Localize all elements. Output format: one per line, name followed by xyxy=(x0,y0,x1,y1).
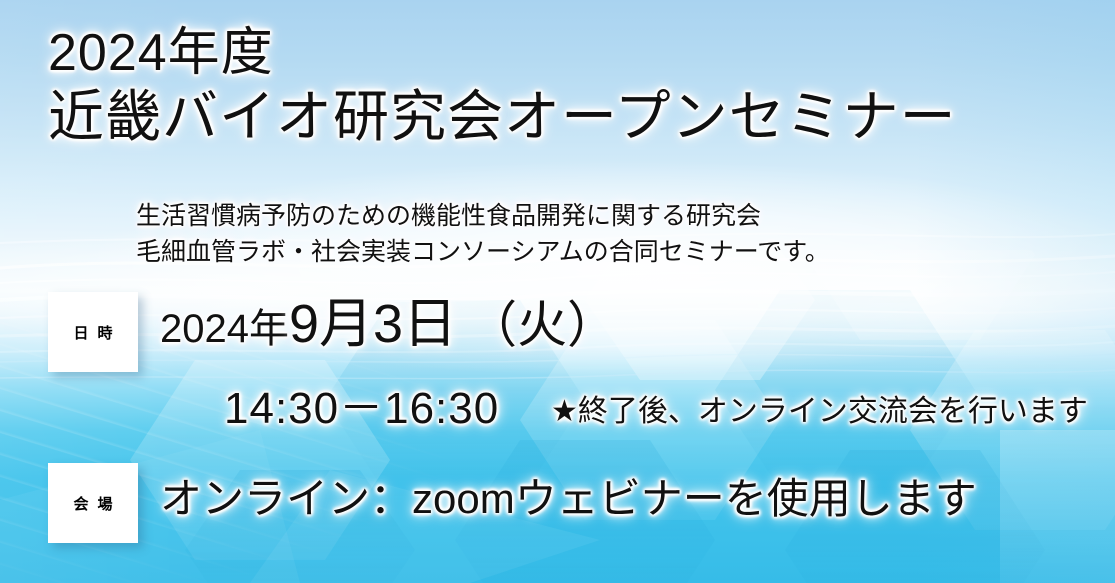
title-line-2: 近畿バイオ研究会オープンセミナー xyxy=(48,84,957,150)
datetime-label-text: 日時 xyxy=(64,322,121,343)
seminar-banner: 2024年度 近畿バイオ研究会オープンセミナー 生活習慣病予防のための機能性食品… xyxy=(0,0,1115,583)
venue-value: オンライン：zoomウェビナーを使用します xyxy=(160,471,977,527)
venue-label-chip: 会場 xyxy=(48,463,138,543)
datetime-label-chip: 日時 xyxy=(48,292,138,372)
subtitle-line-2: 毛細血管ラボ・社会実装コンソーシアムの合同セミナーです。 xyxy=(136,234,830,270)
event-day-of-week: （火） xyxy=(467,297,617,353)
event-date-row: 2024年 9月3日 （火） xyxy=(160,296,617,357)
post-event-note: ★終了後、オンライン交流会を行います xyxy=(551,392,1088,432)
event-month-day: 9月3日 xyxy=(289,296,457,352)
event-time-range: 14:30－16:30 xyxy=(224,383,499,435)
banner-subtitle: 生活習慣病予防のための機能性食品開発に関する研究会 毛細血管ラボ・社会実装コンソ… xyxy=(136,198,830,270)
banner-content: 2024年度 近畿バイオ研究会オープンセミナー 生活習慣病予防のための機能性食品… xyxy=(0,0,1115,583)
title-line-1: 2024年度 xyxy=(48,22,957,84)
subtitle-line-1: 生活習慣病予防のための機能性食品開発に関する研究会 xyxy=(136,198,830,234)
banner-title: 2024年度 近畿バイオ研究会オープンセミナー xyxy=(48,22,957,150)
event-year: 2024年 xyxy=(160,301,289,357)
venue-label-text: 会場 xyxy=(64,493,121,514)
